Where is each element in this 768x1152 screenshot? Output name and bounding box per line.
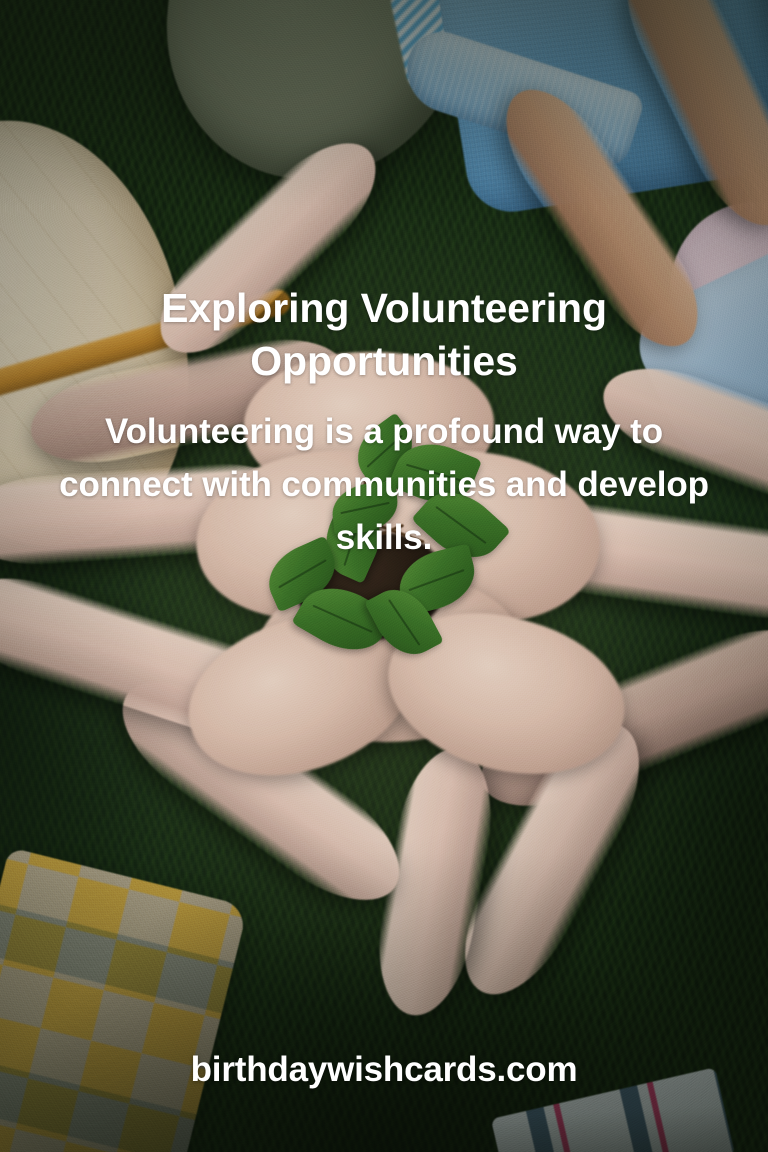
photo-grain xyxy=(0,0,768,1152)
poster: Exploring Volunteering Opportunities Vol… xyxy=(0,0,768,1152)
background-photo xyxy=(0,0,768,1152)
